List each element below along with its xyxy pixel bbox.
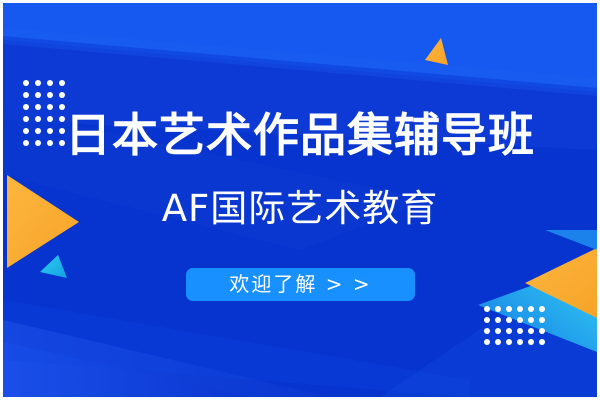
promo-banner: 日本艺术作品集辅导班 AF国际艺术教育 欢迎了解 > >: [0, 0, 600, 400]
banner-content: 日本艺术作品集辅导班 AF国际艺术教育 欢迎了解 > >: [0, 0, 600, 400]
welcome-cta-button[interactable]: 欢迎了解 > >: [186, 268, 415, 301]
banner-subtitle: AF国际艺术教育: [0, 190, 600, 227]
banner-title: 日本艺术作品集辅导班: [0, 112, 600, 158]
